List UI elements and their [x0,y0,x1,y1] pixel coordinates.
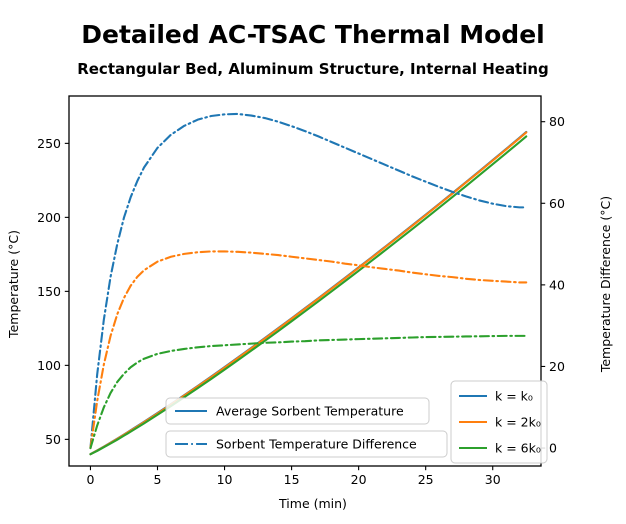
y-left-tick-label-3: 200 [37,210,61,225]
chart-svg: Detailed AC-TSAC Thermal Model Rectangul… [0,0,626,524]
chart-subtitle: Rectangular Bed, Aluminum Structure, Int… [77,60,549,78]
x-tick-label-0: 0 [86,472,94,487]
legend-box-conductivity[interactable]: k = k₀k = 2k₀k = 6k₀ [451,381,547,463]
legend-label: Average Sorbent Temperature [216,404,404,419]
x-tick-label-3: 15 [284,472,300,487]
y-left-tick-label-1: 100 [37,358,61,373]
legend-label: k = 6k₀ [495,441,541,456]
legend-label: k = k₀ [495,389,533,404]
x-tick-label-2: 10 [217,472,233,487]
legend-box-style-0[interactable]: Average Sorbent Temperature [166,398,429,424]
y-left-tick-label-4: 250 [37,136,61,151]
y-right-tick-label-4: 80 [549,114,565,129]
x-tick-label-1: 5 [154,472,162,487]
x-tick-label-5: 25 [418,472,434,487]
y-right-tick-label-1: 20 [549,359,565,374]
y-right-tick-label-0: 0 [549,441,557,456]
figure-canvas: Detailed AC-TSAC Thermal Model Rectangul… [0,0,626,524]
x-tick-label-6: 30 [485,472,501,487]
legend-box-style-1[interactable]: Sorbent Temperature Difference [166,431,447,457]
legend-label: k = 2k₀ [495,415,541,430]
x-axis-label: Time (min) [278,496,347,511]
legend-label: Sorbent Temperature Difference [216,437,417,452]
y-left-tick-label-0: 50 [45,432,61,447]
y-axis-label-left: Temperature (°C) [6,230,21,339]
x-tick-label-4: 20 [351,472,367,487]
y-left-tick-label-2: 150 [37,284,61,299]
y-right-tick-label-2: 40 [549,277,565,292]
y-axis-label-right: Temperature Difference (°C) [598,196,613,373]
chart-title: Detailed AC-TSAC Thermal Model [81,20,544,49]
y-right-tick-label-3: 60 [549,196,565,211]
